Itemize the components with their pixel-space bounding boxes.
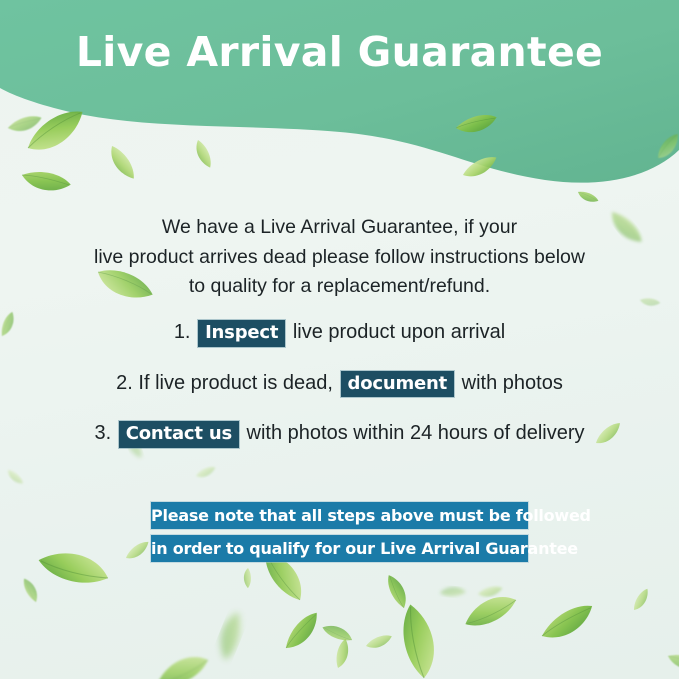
note-line-2: in order to qualify for our Live Arrival… [151, 535, 528, 562]
step-text-after: with photos within 24 hours of delivery [247, 422, 585, 444]
step-number: 1. [174, 321, 191, 343]
step-highlight-document: document [341, 371, 455, 398]
live-arrival-guarantee-poster: Live Arrival Guarantee [0, 0, 679, 679]
intro-line-2: live product arrives dead please follow … [60, 243, 619, 273]
poster-content: We have a Live Arrival Guarantee, if you… [0, 0, 679, 679]
step-item-3: 3. Contact us with photos within 24 hour… [20, 421, 659, 448]
step-number: 3. [95, 422, 112, 444]
footer-notes: Please note that all steps above must be… [0, 502, 679, 568]
note-line-1: Please note that all steps above must be… [151, 502, 528, 529]
intro-line-1: We have a Live Arrival Guarantee, if you… [60, 213, 619, 243]
step-item-1: 1. Inspect live product upon arrival [20, 320, 659, 347]
step-number: 2. [116, 372, 133, 394]
step-text-after: live product upon arrival [293, 321, 505, 343]
intro-line-3: to quality for a replacement/refund. [60, 272, 619, 302]
step-highlight-contact-us[interactable]: Contact us [119, 421, 239, 448]
intro-paragraph: We have a Live Arrival Guarantee, if you… [60, 213, 619, 302]
step-text-after: with photos [462, 372, 563, 394]
step-item-2: 2. If live product is dead, document wit… [20, 371, 659, 398]
steps-list: 1. Inspect live product upon arrival 2. … [20, 320, 659, 472]
step-highlight-inspect: Inspect [198, 320, 285, 347]
step-text-before: If live product is dead, [138, 372, 333, 394]
